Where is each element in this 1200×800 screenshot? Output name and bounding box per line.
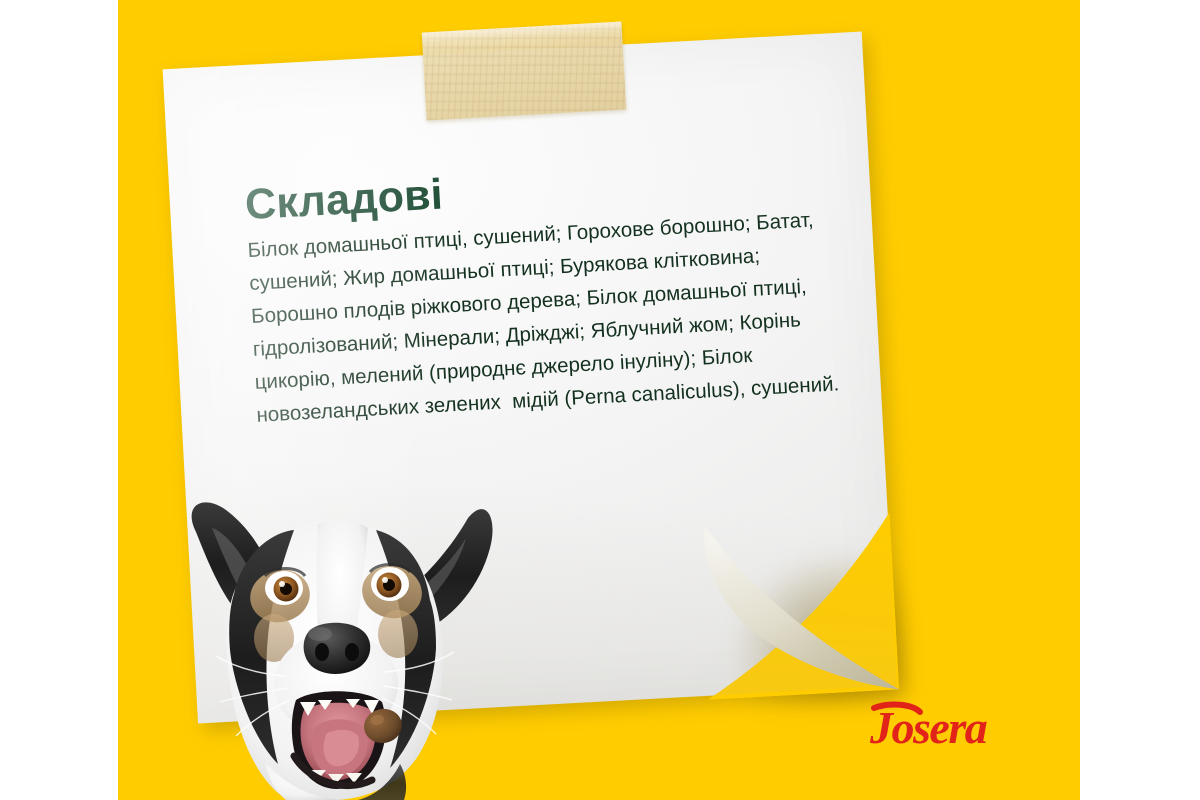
masking-tape [422,21,627,120]
josera-logo: Josera [868,700,1048,758]
note-text-block: Складові Білок домашньої птиці, сушений;… [244,151,857,432]
poster-canvas: Складові Білок домашньої птиці, сушений;… [0,0,1200,800]
svg-text:Josera: Josera [869,702,987,753]
dog-photo [168,488,498,800]
ingredients-text: Білок домашньої птиці, сушений; Горохове… [247,202,857,432]
